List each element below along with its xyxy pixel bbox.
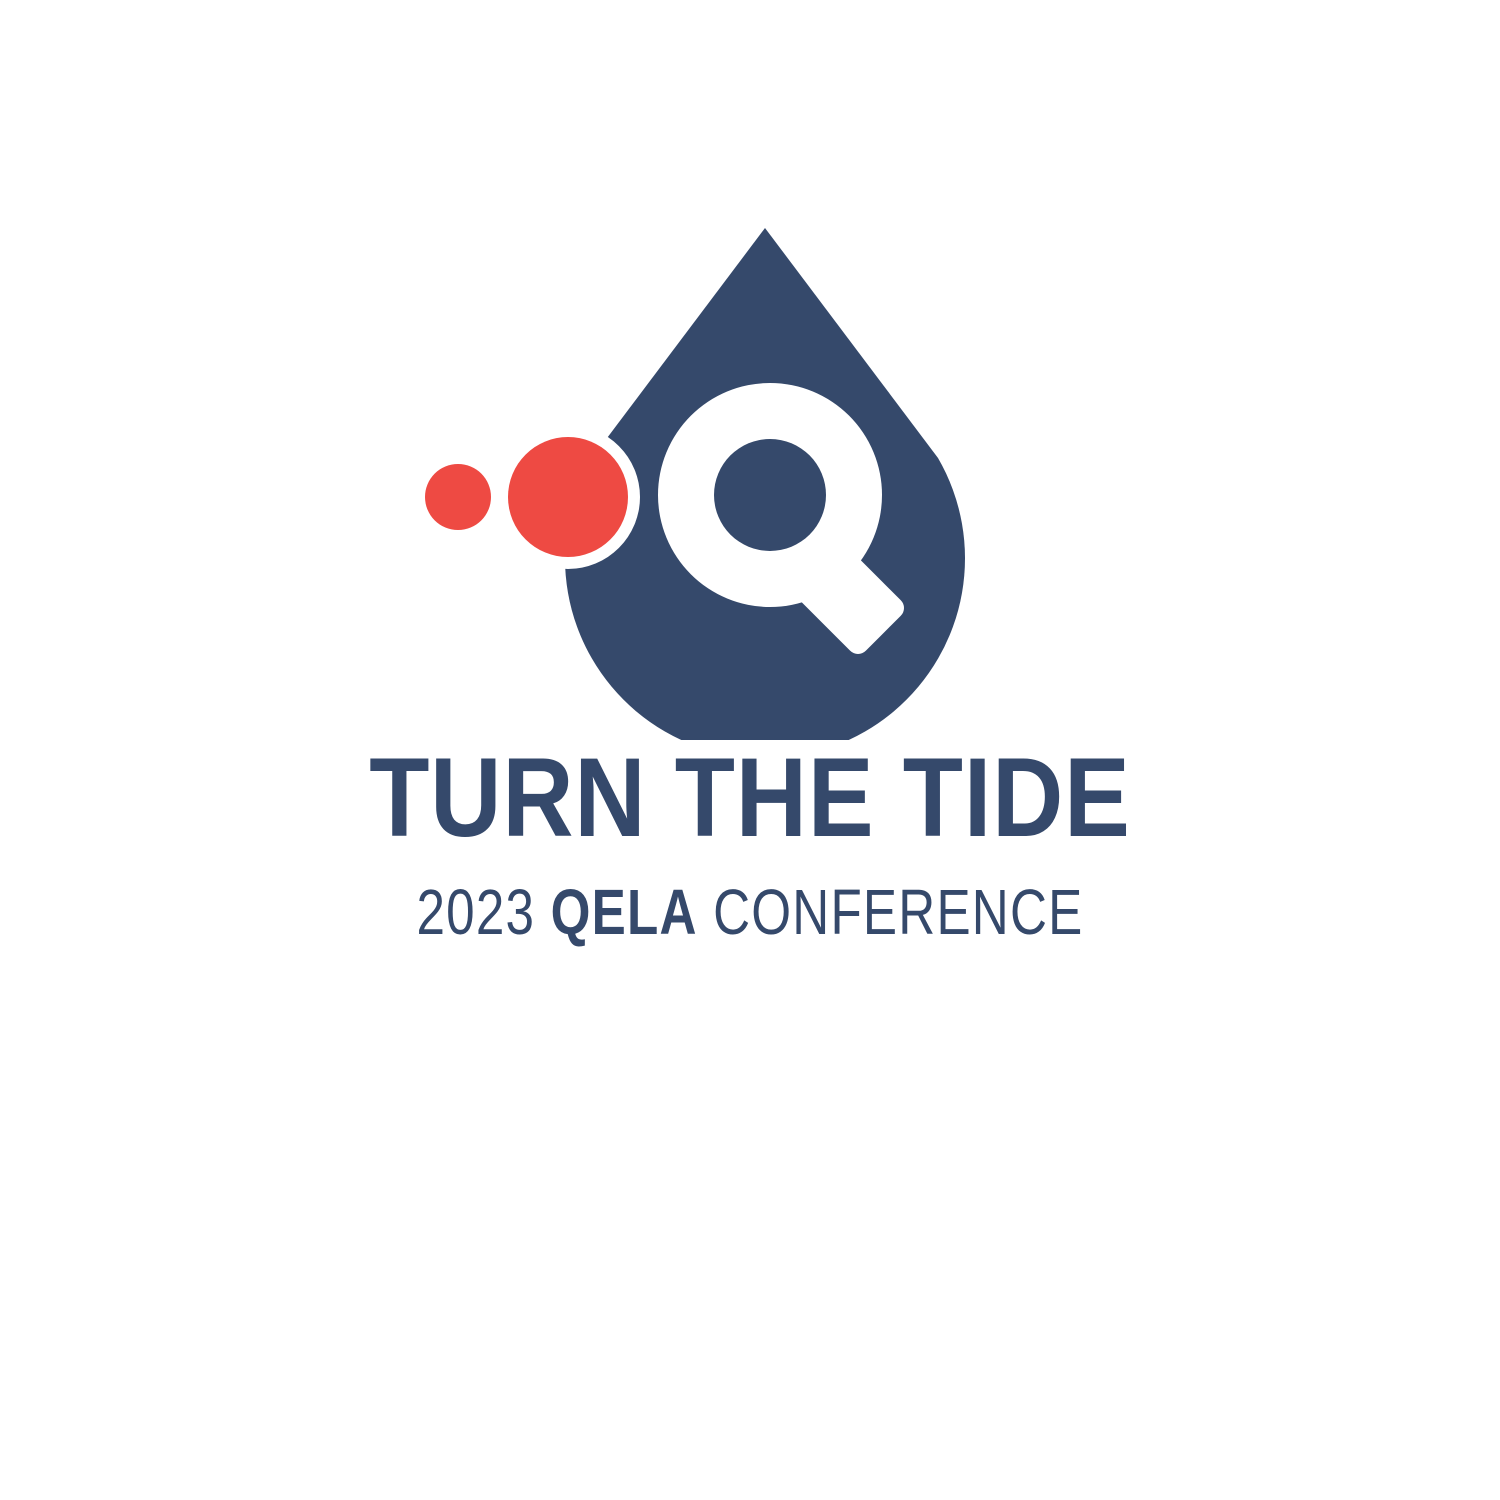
primary-logo-mark bbox=[390, 200, 1010, 740]
wordmark-subtitle: 2023 QELA CONFERENCE bbox=[150, 880, 1350, 944]
red-bubble-small bbox=[425, 464, 491, 530]
subtitle-org: QELA bbox=[551, 876, 698, 948]
subtitle-space-2 bbox=[698, 876, 713, 948]
logo-presentation-canvas: TURN THE TIDE 2023 QELA CONFERENCE Logo … bbox=[0, 0, 1500, 1500]
logo-concept-section: Logo Concept : Water Drop bbox=[0, 1160, 1500, 1460]
water-drop-with-q-magnifier-mark bbox=[390, 200, 1010, 740]
water-drop-navy-shape bbox=[390, 200, 1010, 740]
logo-lockup: TURN THE TIDE 2023 QELA CONFERENCE bbox=[0, 0, 1500, 960]
subtitle-space-1 bbox=[535, 876, 550, 948]
red-bubble-large bbox=[508, 437, 628, 557]
wordmark-title: TURN THE TIDE bbox=[90, 742, 1410, 854]
subtitle-year: 2023 bbox=[417, 876, 536, 948]
subtitle-event: CONFERENCE bbox=[713, 876, 1083, 948]
wordmark: TURN THE TIDE 2023 QELA CONFERENCE bbox=[0, 742, 1500, 944]
